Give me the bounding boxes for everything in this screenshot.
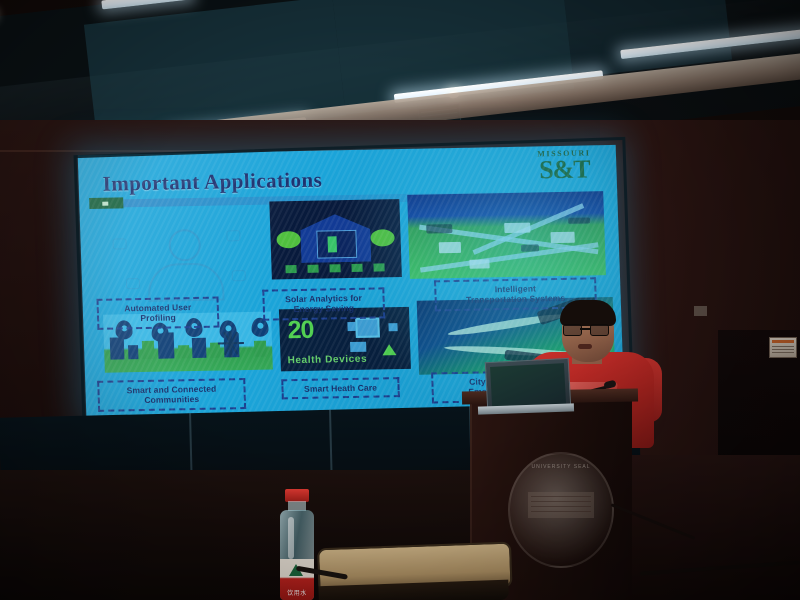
seal-text: UNIVERSITY SEAL xyxy=(510,464,612,470)
solar-analytics-illustration xyxy=(269,199,402,279)
caption-automated-user-profiling: Automated User Profiling xyxy=(96,297,219,330)
podium-seal: UNIVERSITY SEAL xyxy=(508,452,614,568)
caption-smart-connected-communities: Smart and Connected Communities xyxy=(97,378,246,412)
audience-chair xyxy=(317,542,509,600)
caption-line-2: Communities xyxy=(144,394,199,405)
slide-title: Important Applications xyxy=(102,168,322,197)
user-profiling-illustration xyxy=(102,210,265,305)
caption-line-1: Smart Heath Care xyxy=(304,383,377,394)
glasses-icon xyxy=(563,324,582,336)
caption-line-1: Smart and Connected xyxy=(126,384,216,396)
caption-line-2: Profiling xyxy=(140,313,176,324)
wall-plate xyxy=(694,306,707,316)
floor-right xyxy=(620,455,800,600)
caption-line-1: Automated User xyxy=(124,302,191,313)
presentation-photo-scene: Important Applications MISSOURI S&T xyxy=(0,0,800,600)
logo-main-text: S&T xyxy=(522,156,607,184)
transportation-illustration xyxy=(407,191,606,279)
missouri-st-logo: MISSOURI S&T xyxy=(522,149,607,184)
water-bottle[interactable]: 饮用水 xyxy=(276,489,318,600)
caption-line-2: Energy Saving xyxy=(294,303,355,314)
caption-solar-analytics: Solar Analytics for Energy Saving xyxy=(262,287,385,320)
wall-sign xyxy=(769,337,797,358)
health-devices-number: 20 xyxy=(287,316,314,345)
caption-smart-health-care: Smart Heath Care xyxy=(281,377,400,400)
slide-corner-tab xyxy=(89,197,123,209)
health-devices-label: Health Devices xyxy=(287,354,367,367)
caption-line-1: Intelligent xyxy=(495,283,537,294)
glasses-icon xyxy=(590,324,609,336)
bottle-label-text: 饮用水 xyxy=(280,588,314,597)
